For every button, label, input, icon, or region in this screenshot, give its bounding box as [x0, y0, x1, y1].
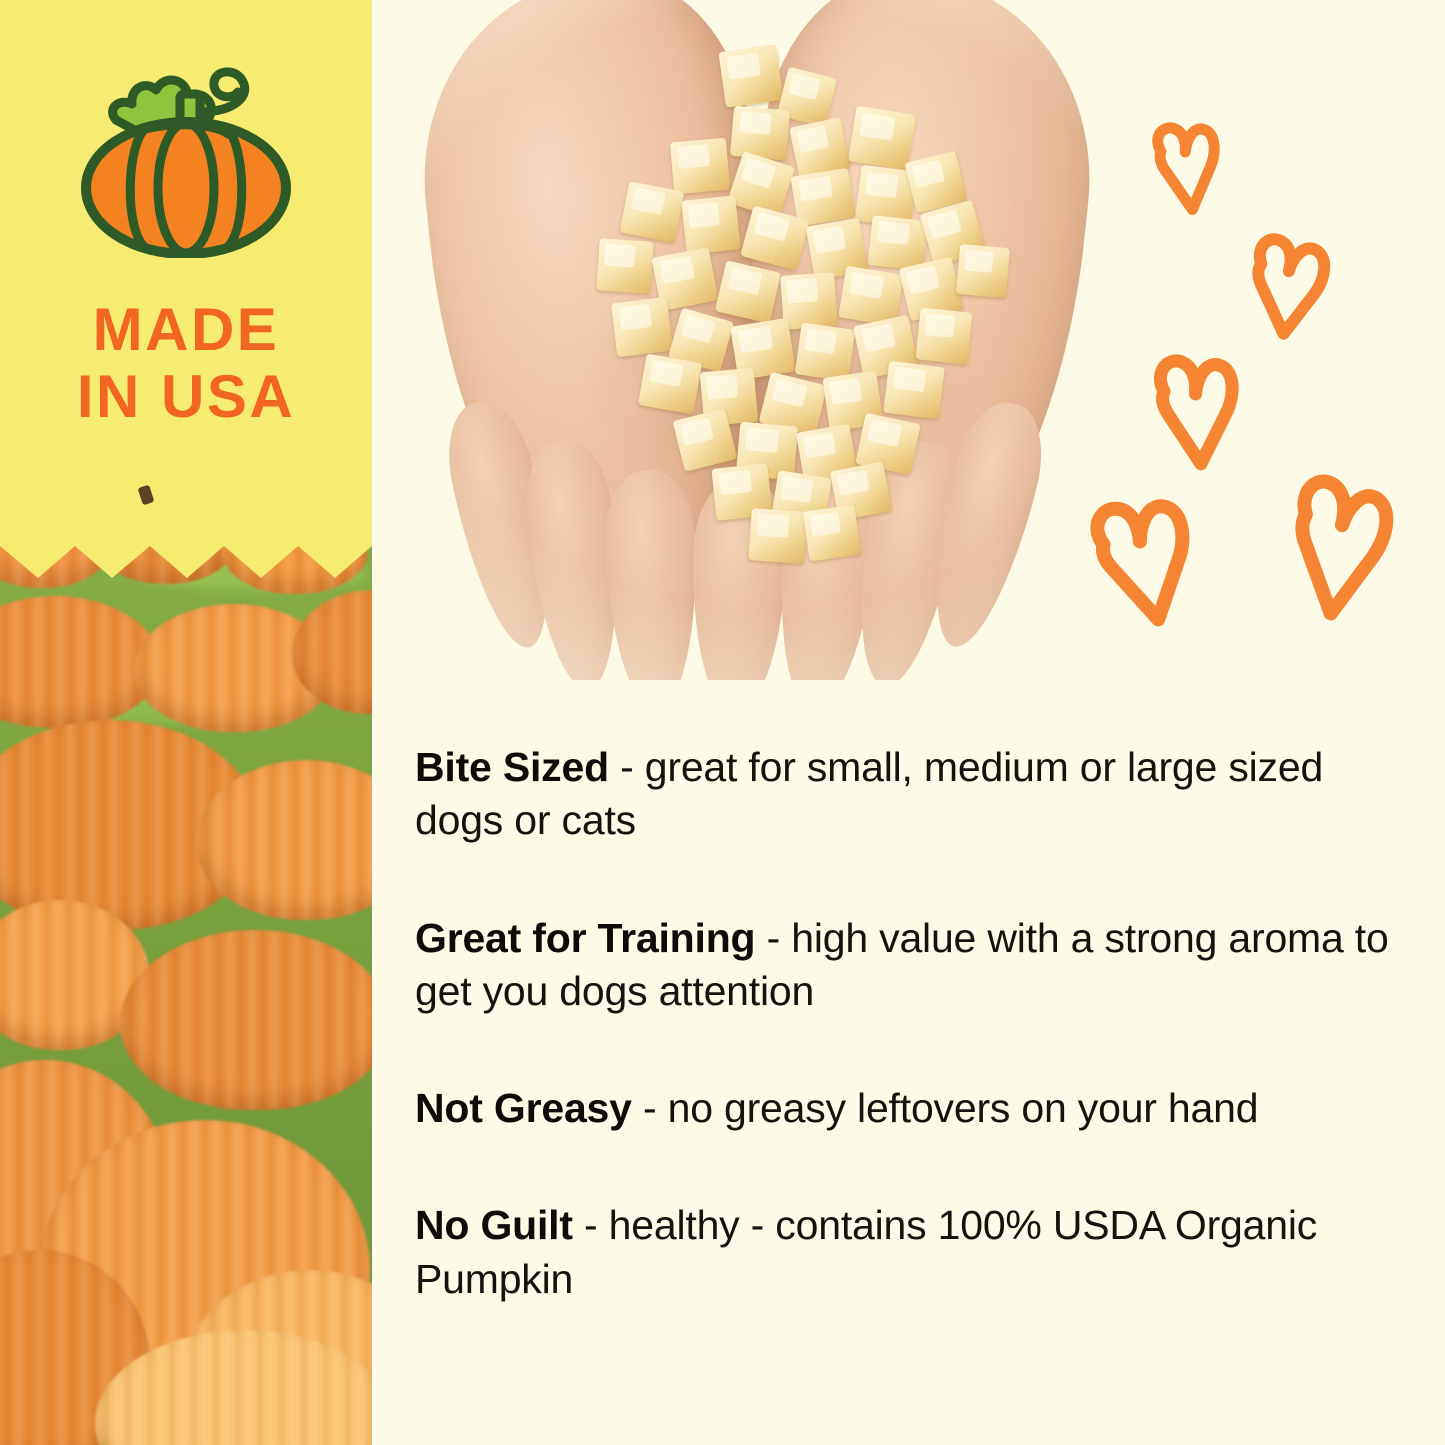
treat-cube	[620, 181, 685, 243]
treat-cube	[915, 307, 972, 364]
treat-cube	[780, 272, 838, 330]
feature-label: No Guilt	[415, 1202, 573, 1248]
pumpkin-large	[95, 1330, 372, 1445]
made-in-usa-text: MADE IN USA	[0, 296, 372, 430]
hands-holding-treats-photo	[402, 0, 1142, 680]
treat-cube	[803, 505, 861, 562]
heart-icon-1	[1143, 108, 1229, 222]
feature-body: - no greasy leftovers on your hand	[632, 1085, 1259, 1131]
treat-cube	[730, 106, 790, 161]
treat-cube	[883, 361, 945, 419]
made-line-1: MADE	[0, 296, 372, 363]
heart-icon-3	[1144, 340, 1249, 477]
feature-list: Bite Sized - great for small, medium or …	[415, 700, 1410, 1306]
treat-cube	[638, 354, 702, 415]
treat-cube	[681, 195, 740, 254]
pumpkin	[196, 760, 372, 920]
heart-icon-5	[1277, 461, 1401, 627]
product-feature-image: MADE IN USA	[0, 0, 1445, 1445]
main-content: Bite Sized - great for small, medium or …	[372, 0, 1445, 1445]
treat-cube	[848, 106, 916, 171]
treat-cube	[670, 138, 730, 195]
treat-cube	[748, 508, 807, 564]
feature-great-for-training: Great for Training - high value with a s…	[415, 912, 1410, 1019]
feature-label: Not Greasy	[415, 1085, 632, 1131]
left-column: MADE IN USA	[0, 0, 372, 1445]
pumpkin-icon	[76, 46, 296, 258]
made-in-usa-panel: MADE IN USA	[0, 0, 372, 578]
made-line-2: IN USA	[0, 363, 372, 430]
made-in-usa-badge: MADE IN USA	[0, 46, 372, 430]
treat-cube	[868, 215, 929, 271]
feature-no-guilt: No Guilt - healthy - contains 100% USDA …	[415, 1199, 1410, 1306]
treat-cube	[956, 244, 1010, 298]
treat-cube	[718, 44, 783, 108]
treat-cube	[611, 297, 673, 357]
pumpkin	[292, 590, 372, 714]
feature-label: Great for Training	[415, 915, 755, 961]
feature-bite-sized: Bite Sized - great for small, medium or …	[415, 741, 1410, 848]
heart-icon-2	[1241, 223, 1335, 345]
feature-not-greasy: Not Greasy - no greasy leftovers on your…	[415, 1082, 1410, 1135]
treat-cube	[795, 322, 856, 381]
treat-cube	[596, 238, 653, 294]
feature-label: Bite Sized	[415, 744, 609, 790]
